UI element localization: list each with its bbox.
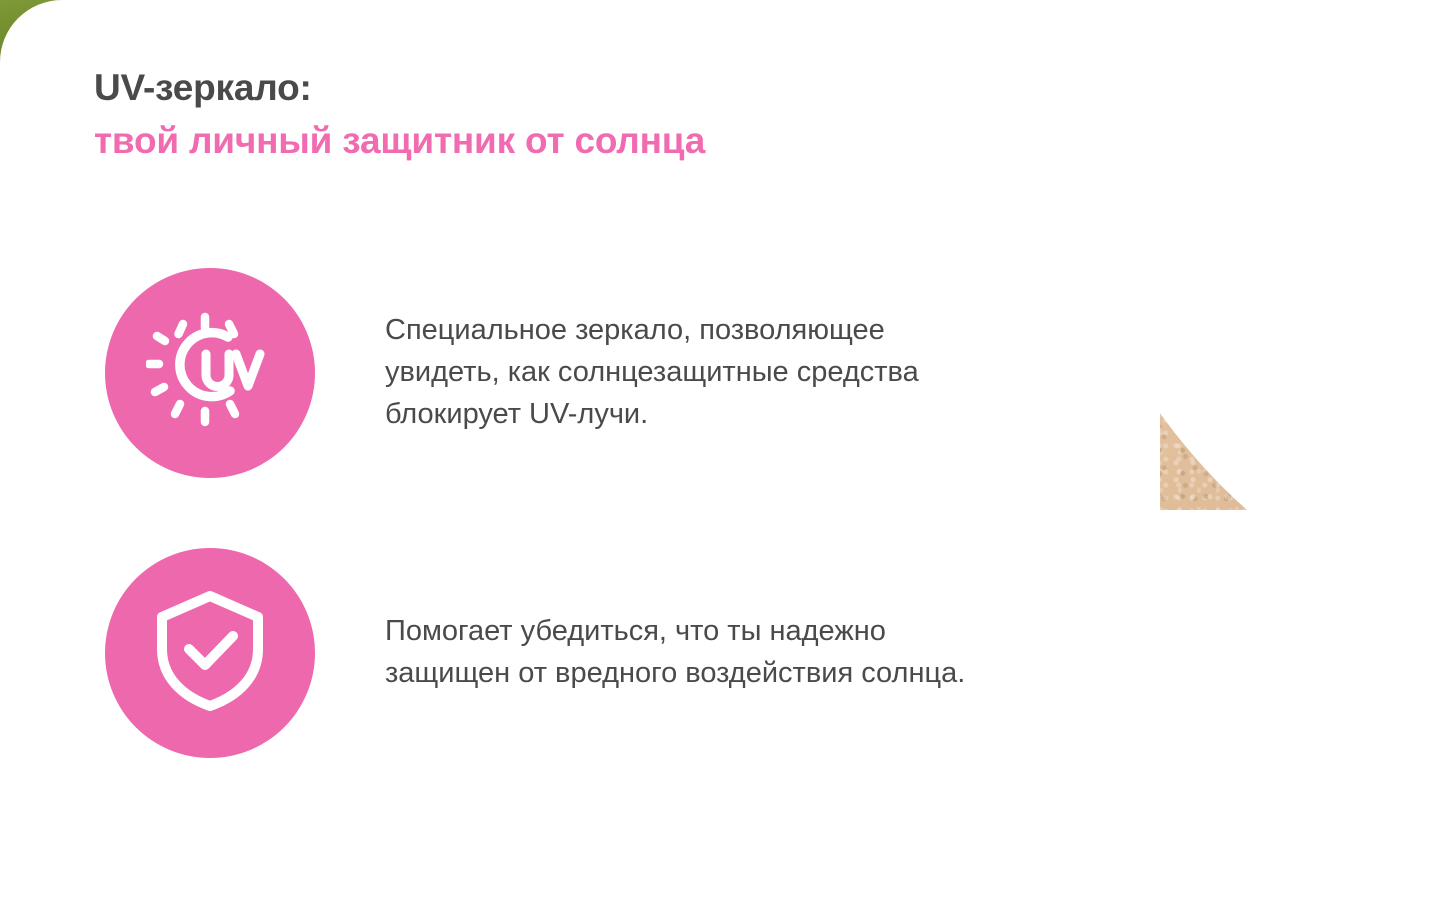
uv-sun-icon-badge [105, 268, 315, 478]
page-title: UV-зеркало: твой личный защитник от солн… [94, 62, 705, 167]
page-title-line-2: твой личный защитник от солнца [94, 115, 705, 168]
shield-check-icon-badge [105, 548, 315, 758]
feature-text-protection: Помогает убедиться, что ты надежно защищ… [315, 611, 965, 695]
feature-item-uv-mirror: Специальное зеркало, позволяющее увидеть… [105, 268, 919, 478]
content-area: UV-зеркало: твой личный защитник от солн… [0, 0, 1440, 901]
promo-banner: UV-зеркало: твой личный защитник от солн… [0, 0, 1440, 901]
feature-text-uv-mirror: Специальное зеркало, позволяющее увидеть… [315, 310, 919, 435]
shield-check-icon [151, 589, 269, 718]
feature-item-protection: Помогает убедиться, что ты надежно защищ… [105, 548, 965, 758]
uv-sun-icon [146, 307, 274, 440]
page-title-line-1: UV-зеркало: [94, 62, 705, 115]
